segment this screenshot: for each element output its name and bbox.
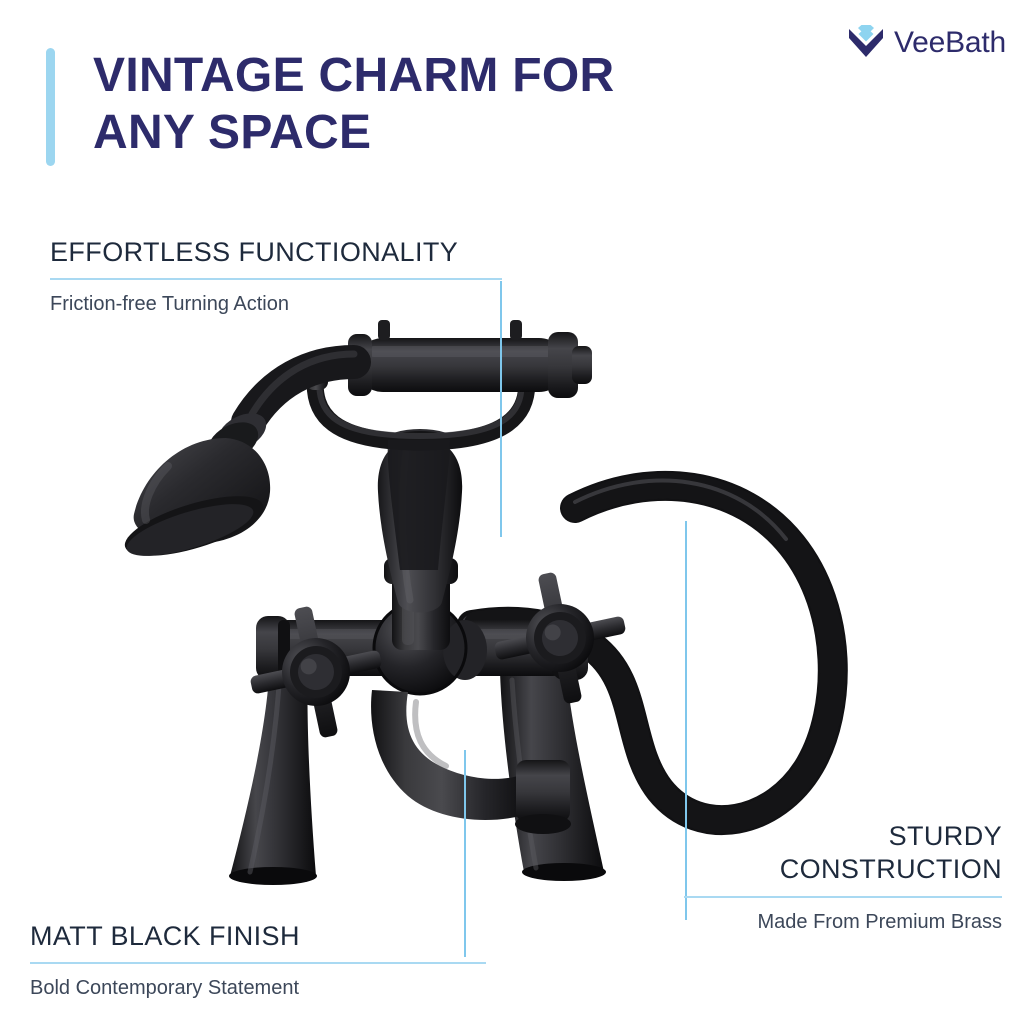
callout-subtitle: Bold Contemporary Statement: [30, 975, 486, 1001]
callout-subtitle: Made From Premium Brass: [684, 909, 1002, 935]
brand-logo: VeeBath: [847, 25, 1006, 61]
shower-rose: [120, 406, 272, 568]
brand-name: VeeBath: [894, 28, 1006, 58]
callout-effortless-functionality: Effortless Functionality Friction-free T…: [50, 236, 502, 317]
veebath-chevron-logo-icon: [847, 25, 885, 61]
callout-subtitle: Friction-free Turning Action: [50, 291, 502, 317]
page-title: Vintage Charm For Any Space: [93, 48, 615, 166]
headline-block: Vintage Charm For Any Space: [46, 48, 615, 166]
callout-sturdy-construction: Sturdy Construction Made From Premium Br…: [684, 820, 1002, 935]
leader-line-functionality: [500, 281, 502, 537]
callout-title: Effortless Functionality: [50, 236, 502, 269]
callout-divider: [30, 962, 486, 964]
callout-divider: [50, 278, 502, 280]
infographic-canvas: VeeBath Vintage Charm For Any Space: [0, 0, 1024, 1024]
shower-handset: [120, 320, 592, 568]
callout-matt-black-finish: Matt Black Finish Bold Contemporary Stat…: [30, 920, 486, 1001]
headline-accent-bar: [46, 48, 55, 166]
callout-title: Matt Black Finish: [30, 920, 486, 953]
callout-title: Sturdy Construction: [684, 820, 1002, 887]
callout-divider: [684, 896, 1002, 898]
